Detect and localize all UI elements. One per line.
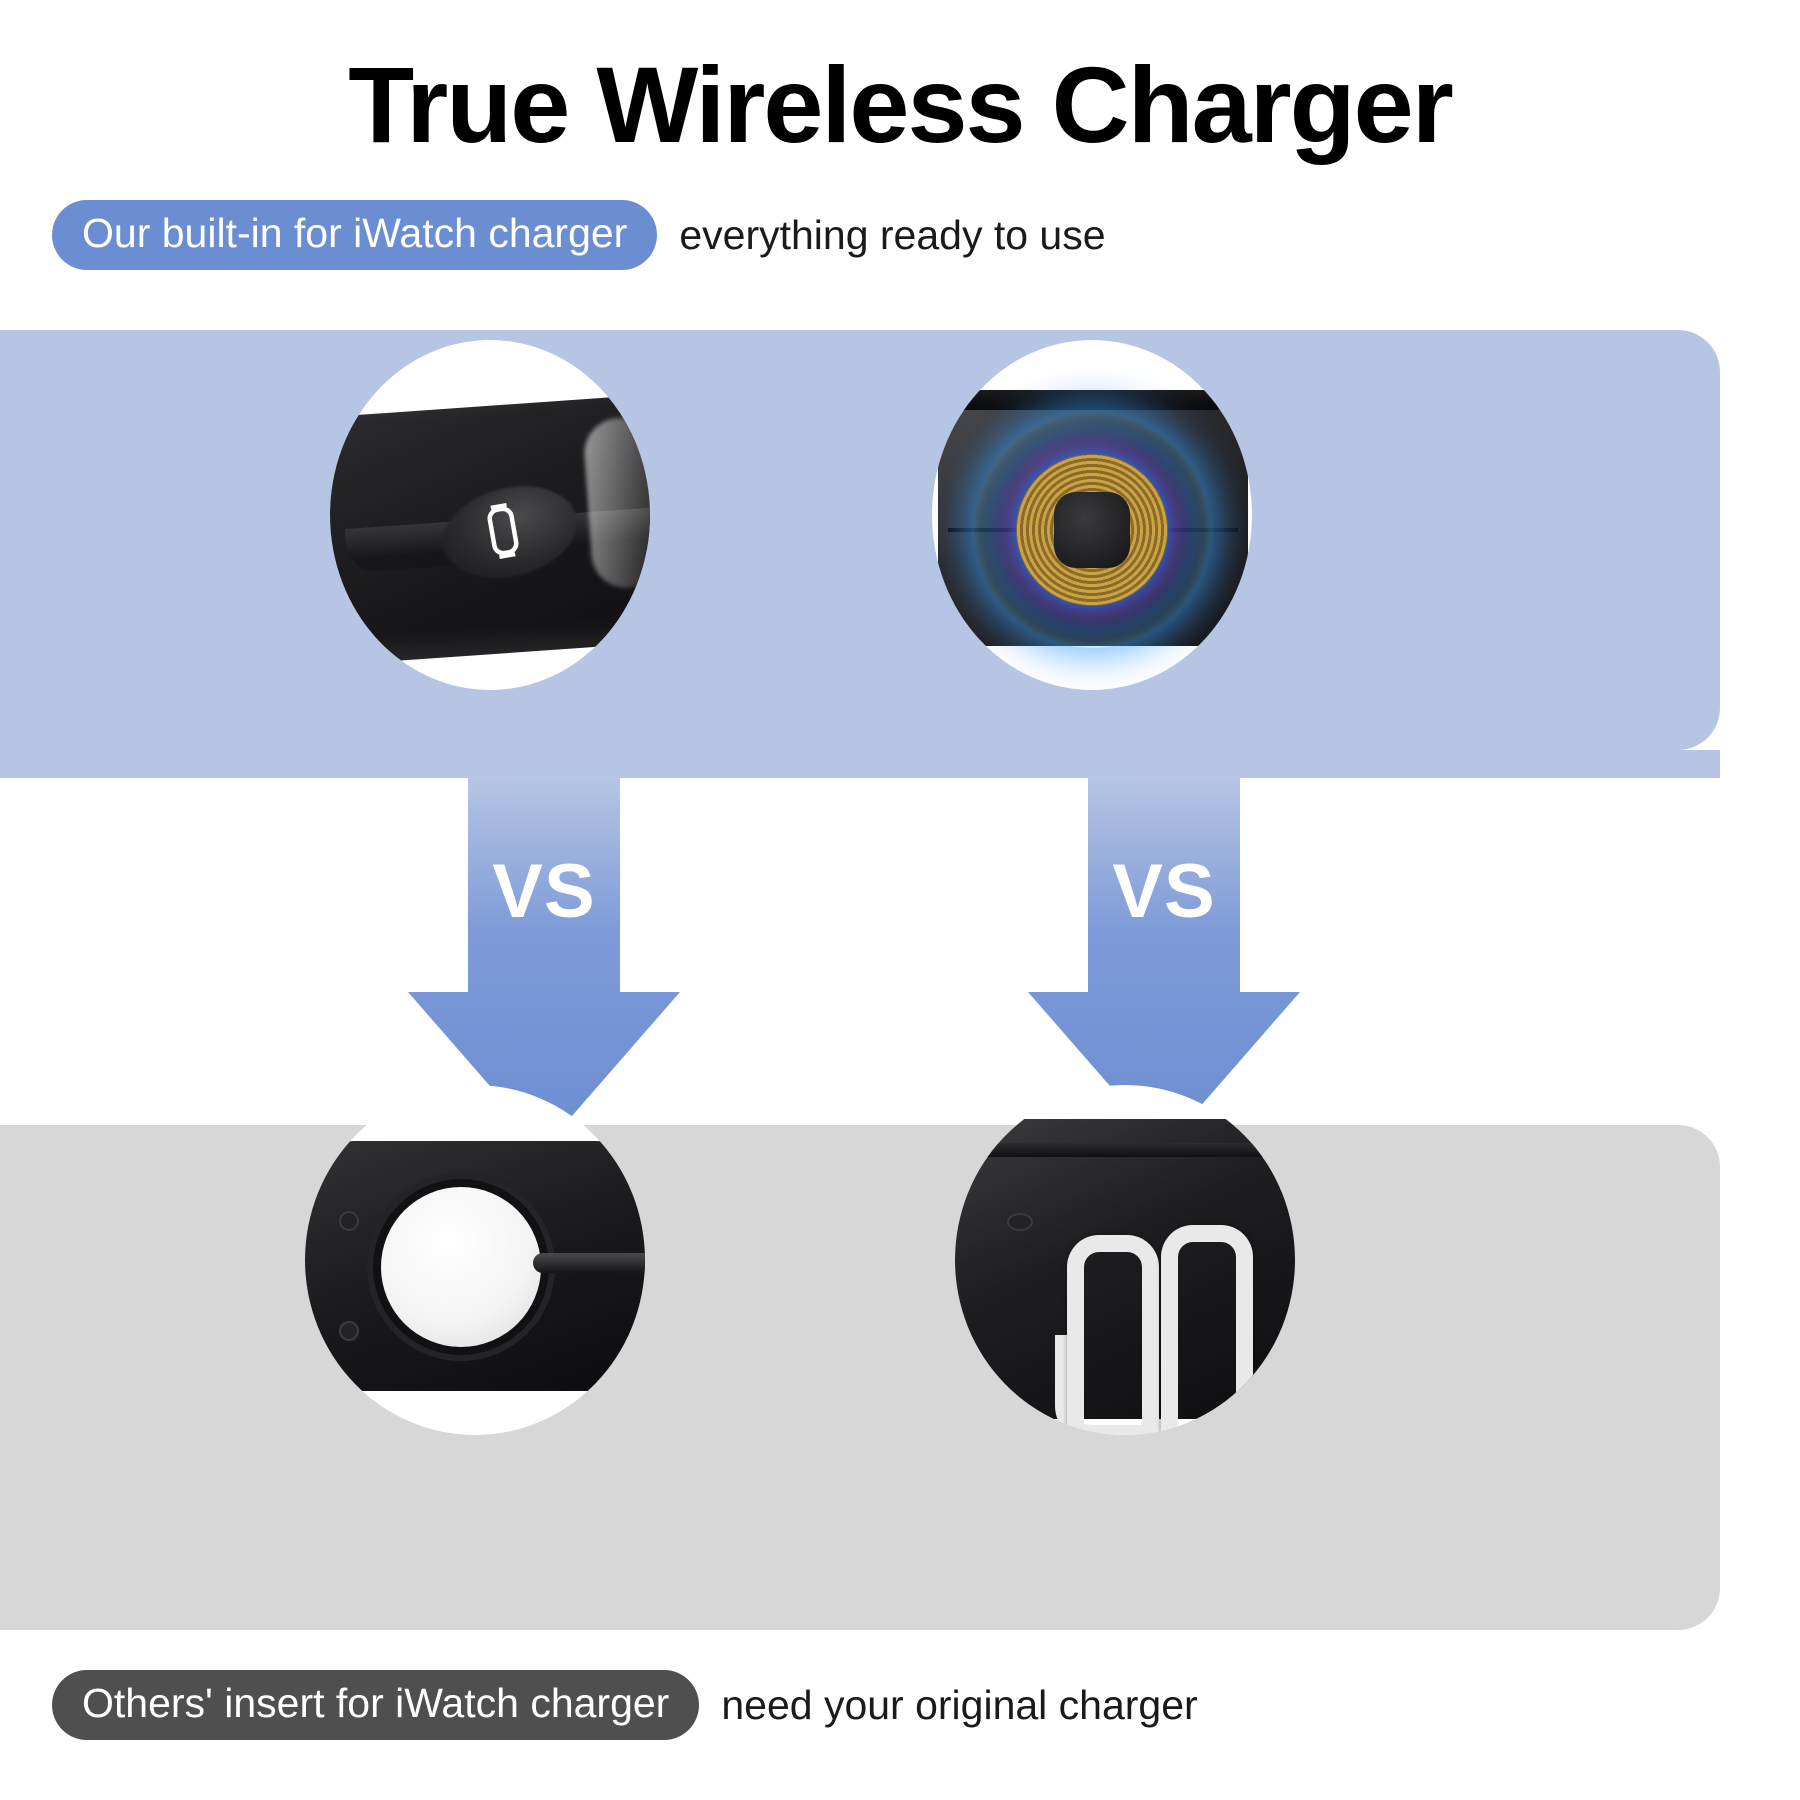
insert-charger-cable bbox=[533, 1253, 645, 1273]
insert-screw-top bbox=[339, 1211, 359, 1231]
charger-cable-loop-1 bbox=[1067, 1235, 1159, 1435]
caption-row-bottom: Others' insert for iWatch charger need y… bbox=[52, 1670, 1198, 1740]
caption-bottom-tail: need your original charger bbox=[721, 1685, 1197, 1726]
page-title: True Wireless Charger bbox=[0, 46, 1800, 165]
top-comparison-panel-extension bbox=[0, 750, 1720, 778]
cable-dock-screw bbox=[1007, 1213, 1033, 1231]
coil-center-button bbox=[1054, 492, 1130, 568]
insert-screw-bottom bbox=[339, 1321, 359, 1341]
caption-top-tail: everything ready to use bbox=[679, 215, 1105, 256]
photo-tangled-charger-cables bbox=[955, 1085, 1295, 1435]
top-comparison-panel bbox=[0, 330, 1720, 750]
photo-built-in-watch-charger-pad bbox=[330, 340, 650, 690]
cable-dock-rail bbox=[979, 1143, 1295, 1157]
coil-charger-lip bbox=[954, 390, 1224, 410]
charger-cable-loop-2 bbox=[1161, 1225, 1253, 1432]
photo-wireless-charging-coil-glow bbox=[932, 340, 1252, 690]
badge-others-insert-charger: Others' insert for iWatch charger bbox=[52, 1670, 699, 1740]
badge-built-in-charger: Our built-in for iWatch charger bbox=[52, 200, 657, 270]
bottom-comparison-panel bbox=[0, 1125, 1720, 1630]
photo-inserted-watch-charger-puck bbox=[305, 1085, 645, 1435]
watch-charger-puck bbox=[381, 1187, 541, 1347]
caption-row-top: Our built-in for iWatch charger everythi… bbox=[52, 200, 1106, 270]
charger-pad-highlight bbox=[582, 416, 650, 590]
